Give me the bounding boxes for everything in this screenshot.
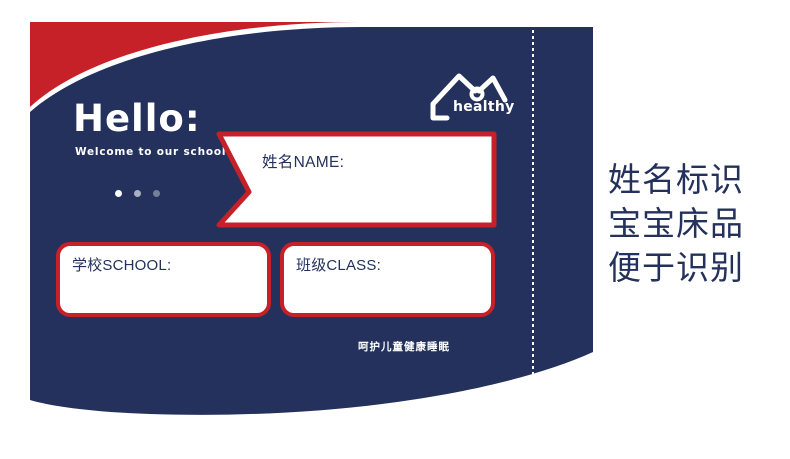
dot-icon-3 — [153, 190, 160, 197]
screenshot-stage: Hello: Welcome to our school healthy 姓名N… — [0, 0, 790, 459]
class-field-label: 班级CLASS: — [296, 254, 381, 275]
house-roof-icon — [425, 60, 511, 128]
side-copy-line-3: 便于识别 — [608, 246, 778, 290]
class-field[interactable]: 班级CLASS: — [280, 242, 495, 317]
name-field-label: 姓名NAME: — [262, 150, 344, 172]
side-copy-line-1: 姓名标识 — [608, 158, 778, 202]
school-field-label: 学校SCHOOL: — [72, 254, 171, 275]
product-card: Hello: Welcome to our school healthy 姓名N… — [30, 22, 593, 420]
dot-icon-2 — [134, 190, 141, 197]
name-banner-shape — [215, 130, 498, 229]
side-copy-line-2: 宝宝床品 — [608, 202, 778, 246]
dot-icon-1 — [115, 190, 122, 197]
name-banner[interactable]: 姓名NAME: — [215, 130, 498, 229]
side-copy-block: 姓名标识 宝宝床品 便于识别 — [608, 158, 778, 290]
brand-logo: healthy — [425, 60, 511, 128]
decorative-dots — [115, 190, 160, 197]
card-slogan: 呵护儿童健康睡眠 — [358, 339, 450, 354]
brand-wordmark: healthy — [453, 100, 515, 114]
school-field[interactable]: 学校SCHOOL: — [56, 242, 271, 317]
